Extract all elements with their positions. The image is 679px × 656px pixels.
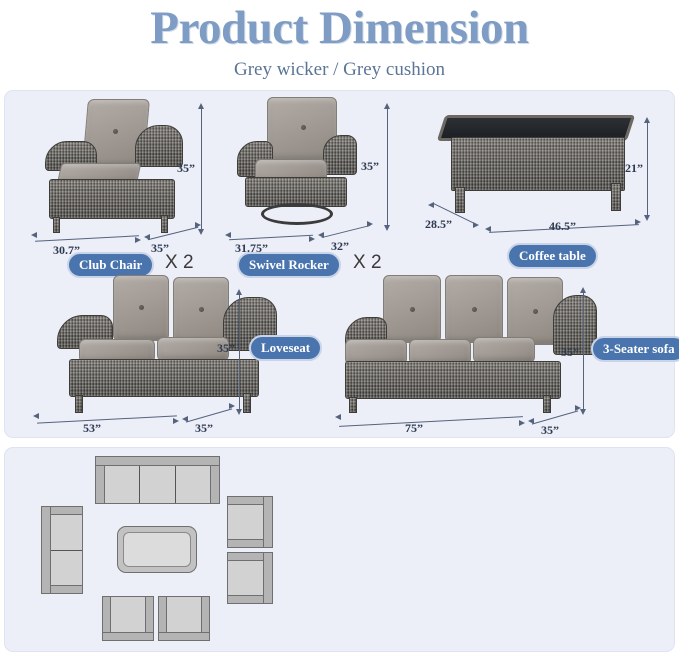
dim-label-height: 35”	[361, 159, 379, 174]
loveseat-leg-left	[75, 395, 83, 413]
dim-label-height: 35”	[217, 341, 235, 356]
floorplan-chair-right-bottom	[227, 552, 273, 604]
loveseat-base	[69, 359, 259, 397]
product-three-seater-sofa: 35” 75” 35” 3-Seater sofa	[335, 269, 676, 435]
chair-backrest	[158, 632, 210, 641]
dim-arrow-up	[236, 289, 242, 295]
table-leg-right	[611, 183, 621, 211]
tuft-dot	[199, 307, 204, 312]
bottom-panel: Specification: SWIVEL ROCKER: L32" X W31…	[4, 447, 675, 652]
dim-arrow-left	[33, 413, 39, 419]
dim-line-width	[339, 416, 523, 427]
dim-arrow-up	[580, 287, 586, 293]
dim-label-depth: 35”	[195, 421, 213, 436]
product-club-chair: 35” 30.7” 35” Club Chair X 2	[5, 91, 233, 261]
dim-line-height	[387, 107, 388, 227]
tuft-dot	[410, 307, 415, 312]
dim-arrow-right2	[367, 221, 373, 227]
chair-seat	[227, 560, 264, 596]
dim-label-height: 21”	[625, 161, 643, 176]
chair-seat	[110, 596, 146, 633]
product-dimension-infographic: Product Dimension Grey wicker / Grey cus…	[0, 0, 679, 656]
tuft-dot	[301, 125, 306, 130]
product-coffee-table: 21” 28.5” 46.5” Coffee table	[409, 91, 676, 261]
dim-arrow-right2	[229, 403, 235, 409]
dim-arrow-left2	[318, 232, 324, 238]
dim-line-height	[583, 291, 584, 411]
sofa-illustration	[345, 275, 593, 415]
chair-seat	[166, 596, 202, 633]
sofa-seat-divider	[175, 466, 176, 503]
chair-arm-bottom	[227, 595, 264, 604]
dim-arrow-left	[225, 232, 231, 238]
dim-line-height	[201, 107, 202, 231]
table-body	[451, 137, 625, 191]
dim-arrow-right	[309, 236, 315, 242]
loveseat-leg-right	[243, 393, 251, 413]
chair-arm-bottom	[227, 539, 264, 548]
chair-base	[49, 179, 175, 219]
sofa-base	[345, 361, 561, 399]
dim-arrow-down	[384, 225, 390, 231]
dim-label-width: 75”	[405, 421, 423, 436]
dim-arrow-right	[173, 418, 179, 424]
coffee-table-illustration	[433, 115, 639, 219]
dim-arrow-left2	[528, 418, 534, 424]
floorplan-chair-right-top	[227, 496, 273, 548]
chair-leg-right	[161, 215, 168, 233]
page-title: Product Dimension	[0, 0, 679, 54]
dim-line-height	[647, 121, 648, 217]
sofa-arm-right	[210, 465, 220, 504]
dim-line-width	[35, 235, 139, 241]
badge-three-seater-sofa: 3-Seater sofa	[591, 336, 679, 362]
furniture-panel: 35” 30.7” 35” Club Chair X 2	[4, 90, 675, 438]
dim-arrow-left2	[144, 234, 150, 240]
table-inner-surface	[123, 532, 191, 567]
dim-arrow-right	[135, 237, 141, 243]
sofa-seat	[104, 465, 211, 504]
dim-arrow-right2	[195, 222, 201, 228]
dim-label-depth: 35”	[541, 423, 559, 438]
swivel-rocker-illustration	[237, 97, 361, 235]
dim-label-depth: 32”	[331, 239, 349, 254]
chair-backrest	[102, 632, 154, 641]
floorplan-sofa	[95, 456, 220, 504]
header: Product Dimension Grey wicker / Grey cus…	[0, 0, 679, 88]
dim-arrow-right2	[575, 405, 581, 411]
right-armrest	[323, 135, 357, 175]
floorplan-loveseat	[41, 506, 83, 594]
dim-arrow-down	[198, 229, 204, 235]
dim-arrow-up	[644, 117, 650, 123]
chair-backrest	[263, 552, 273, 604]
dim-line-width	[37, 415, 177, 423]
tuft-dot	[472, 307, 477, 312]
swivel-ring	[261, 203, 333, 225]
chair-seat	[227, 504, 264, 540]
product-loveseat: 35” 53” 35” Loveseat	[5, 269, 339, 435]
dim-label-width: 53”	[83, 421, 101, 436]
dim-label-height: 35”	[561, 345, 579, 360]
table-leg-left	[455, 187, 465, 213]
dim-arrow-left	[428, 202, 434, 208]
product-swivel-rocker: 35” 31.75” 32” Swivel Rocker X 2	[221, 91, 423, 261]
dim-arrow-right2	[635, 219, 641, 225]
dim-arrow-up	[384, 103, 390, 109]
dim-arrow-right	[519, 420, 525, 426]
dim-arrow-down	[236, 409, 242, 415]
chair-backrest	[263, 496, 273, 548]
loveseat-arm-bottom	[50, 585, 83, 594]
seat-cushion-3	[473, 337, 535, 363]
sofa-leg-left	[349, 397, 357, 413]
dim-arrow-right	[473, 222, 479, 228]
badge-coffee-table: Coffee table	[507, 243, 598, 269]
chair-leg-left	[53, 217, 60, 233]
dim-arrow-down	[644, 215, 650, 221]
badge-loveseat: Loveseat	[249, 335, 322, 361]
dim-arrow-left2	[485, 226, 491, 232]
dim-line-height	[239, 293, 240, 411]
loveseat-illustration	[57, 275, 279, 415]
dim-arrow-left	[31, 232, 37, 238]
loveseat-seat-divider	[51, 550, 82, 551]
tuft-dot	[139, 305, 144, 310]
right-armrest	[135, 125, 183, 167]
dim-label-height: 35”	[177, 161, 195, 176]
sofa-seat-divider	[139, 466, 140, 503]
floor-plan-diagram	[5, 448, 331, 651]
dim-label-depth: 28.5”	[425, 217, 452, 232]
dim-label-width: 46.5”	[549, 219, 576, 234]
dim-arrow-up	[198, 103, 204, 109]
dim-line-width	[229, 235, 313, 240]
dim-arrow-left	[335, 414, 341, 420]
club-chair-illustration	[37, 99, 187, 234]
tuft-dot	[533, 309, 538, 314]
dim-arrow-left2	[182, 416, 188, 422]
floorplan-chair-bottom-right	[158, 596, 210, 641]
sofa-leg-right	[543, 395, 551, 413]
floorplan-chair-bottom-left	[102, 596, 154, 641]
tuft-dot	[113, 129, 118, 134]
page-subtitle: Grey wicker / Grey cushion	[0, 54, 679, 82]
floorplan-coffee-table	[117, 526, 197, 573]
